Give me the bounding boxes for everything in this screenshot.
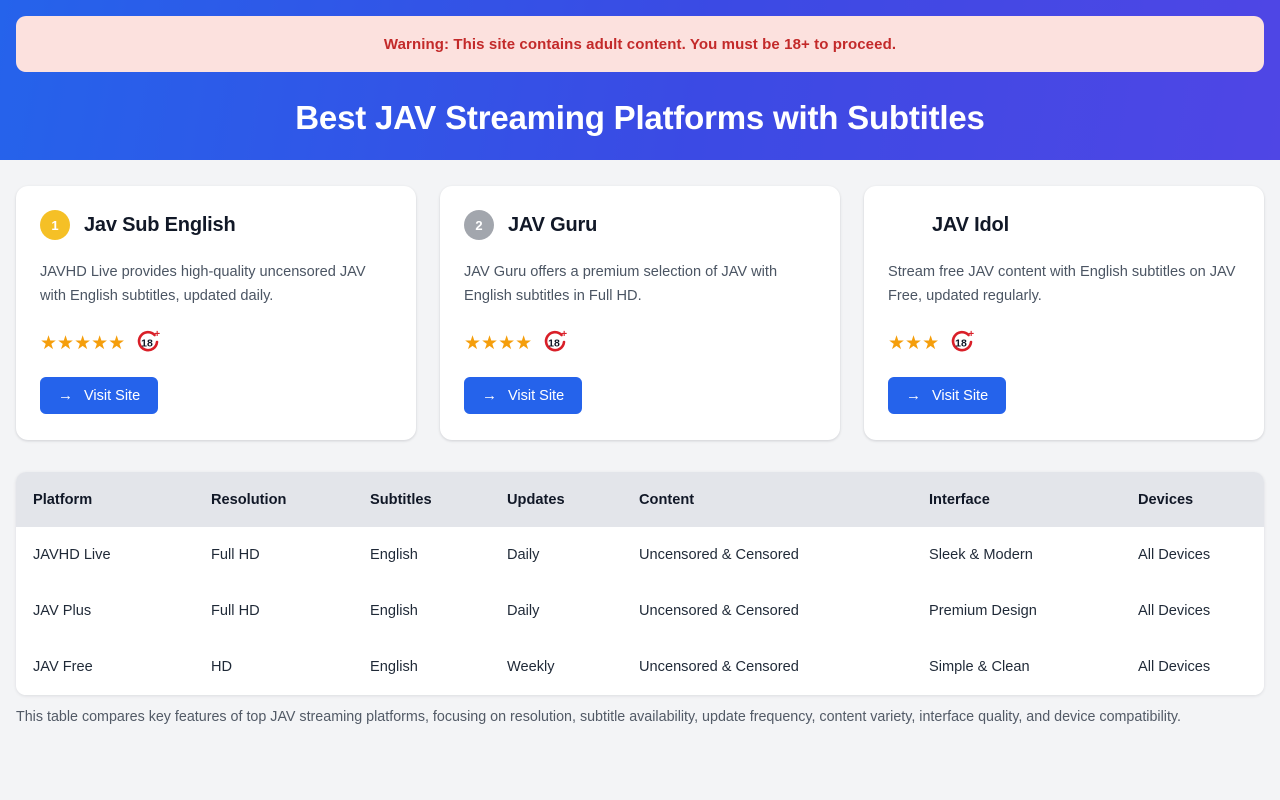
platform-card[interactable]: 2 JAV Guru JAV Guru offers a premium sel… <box>440 186 840 440</box>
card-header: 1 Jav Sub English <box>40 208 392 242</box>
table-body: JAVHD Live Full HD English Daily Uncenso… <box>16 527 1264 695</box>
table-caption: This table compares key features of top … <box>16 706 1241 730</box>
cell-platform: JAV Free <box>16 639 194 695</box>
cell-content: Uncensored & Censored <box>622 527 912 583</box>
card-description: JAVHD Live provides high-quality uncenso… <box>40 261 392 308</box>
page-header: Warning: This site contains adult conten… <box>0 0 1280 160</box>
cell-interface: Premium Design <box>912 583 1121 639</box>
cell-devices: All Devices <box>1121 639 1264 695</box>
warning-text: Warning: This site contains adult conten… <box>384 36 896 53</box>
cell-devices: All Devices <box>1121 527 1264 583</box>
arrow-right-icon: → <box>58 388 73 403</box>
card-title: JAV Guru <box>508 214 597 237</box>
card-header: JAV Idol <box>888 208 1240 242</box>
age-18-plus-icon: 18 + <box>541 329 569 357</box>
visit-site-label: Visit Site <box>84 388 140 404</box>
column-header-interface: Interface <box>912 472 1121 527</box>
svg-text:+: + <box>968 329 974 340</box>
cell-subtitles: English <box>353 583 490 639</box>
visit-site-label: Visit Site <box>508 388 564 404</box>
platform-card[interactable]: JAV Idol Stream free JAV content with En… <box>864 186 1264 440</box>
adult-content-warning-banner: Warning: This site contains adult conten… <box>16 16 1264 72</box>
cell-resolution: Full HD <box>194 583 353 639</box>
page-title: Best JAV Streaming Platforms with Subtit… <box>16 99 1264 137</box>
comparison-table-container: Platform Resolution Subtitles Updates Co… <box>16 472 1264 695</box>
cell-devices: All Devices <box>1121 583 1264 639</box>
cell-interface: Sleek & Modern <box>912 527 1121 583</box>
cell-subtitles: English <box>353 527 490 583</box>
cell-content: Uncensored & Censored <box>622 583 912 639</box>
card-description: JAV Guru offers a premium selection of J… <box>464 261 816 308</box>
table-header-row: Platform Resolution Subtitles Updates Co… <box>16 472 1264 527</box>
rank-badge: 2 <box>464 210 494 240</box>
cell-content: Uncensored & Censored <box>622 639 912 695</box>
arrow-right-icon: → <box>906 388 921 403</box>
visit-site-button[interactable]: → Visit Site <box>464 377 582 414</box>
rank-badge: 1 <box>40 210 70 240</box>
age-18-plus-icon: 18 + <box>948 329 976 357</box>
card-header: 2 JAV Guru <box>464 208 816 242</box>
star-rating: ★★★★ <box>464 334 532 353</box>
age-18-plus-icon: 18 + <box>134 329 162 357</box>
cell-updates: Weekly <box>490 639 622 695</box>
cell-updates: Daily <box>490 527 622 583</box>
column-header-subtitles: Subtitles <box>353 472 490 527</box>
card-rating-row: ★★★★★ 18 + <box>40 328 392 358</box>
star-rating: ★★★ <box>888 334 939 353</box>
card-rating-row: ★★★★ 18 + <box>464 328 816 358</box>
cell-updates: Daily <box>490 583 622 639</box>
svg-text:18: 18 <box>141 338 153 350</box>
cell-platform: JAV Plus <box>16 583 194 639</box>
svg-text:18: 18 <box>955 338 967 350</box>
table-row: JAV Free HD English Weekly Uncensored & … <box>16 639 1264 695</box>
column-header-platform: Platform <box>16 472 194 527</box>
column-header-resolution: Resolution <box>194 472 353 527</box>
svg-text:+: + <box>154 329 160 340</box>
svg-text:+: + <box>561 329 567 340</box>
cell-resolution: Full HD <box>194 527 353 583</box>
column-header-updates: Updates <box>490 472 622 527</box>
cell-resolution: HD <box>194 639 353 695</box>
column-header-devices: Devices <box>1121 472 1264 527</box>
card-description: Stream free JAV content with English sub… <box>888 261 1240 308</box>
card-rating-row: ★★★ 18 + <box>888 328 1240 358</box>
platform-card[interactable]: 1 Jav Sub English JAVHD Live provides hi… <box>16 186 416 440</box>
table-row: JAV Plus Full HD English Daily Uncensore… <box>16 583 1264 639</box>
visit-site-button[interactable]: → Visit Site <box>40 377 158 414</box>
table-row: JAVHD Live Full HD English Daily Uncenso… <box>16 527 1264 583</box>
platform-cards-row: 1 Jav Sub English JAVHD Live provides hi… <box>0 160 1280 440</box>
card-title: JAV Idol <box>932 214 1009 237</box>
cell-subtitles: English <box>353 639 490 695</box>
cell-interface: Simple & Clean <box>912 639 1121 695</box>
visit-site-button[interactable]: → Visit Site <box>888 377 1006 414</box>
visit-site-label: Visit Site <box>932 388 988 404</box>
svg-text:18: 18 <box>548 338 560 350</box>
arrow-right-icon: → <box>482 388 497 403</box>
star-rating: ★★★★★ <box>40 334 125 353</box>
column-header-content: Content <box>622 472 912 527</box>
card-title: Jav Sub English <box>84 214 235 237</box>
cell-platform: JAVHD Live <box>16 527 194 583</box>
comparison-table: Platform Resolution Subtitles Updates Co… <box>16 472 1264 695</box>
table-head: Platform Resolution Subtitles Updates Co… <box>16 472 1264 527</box>
